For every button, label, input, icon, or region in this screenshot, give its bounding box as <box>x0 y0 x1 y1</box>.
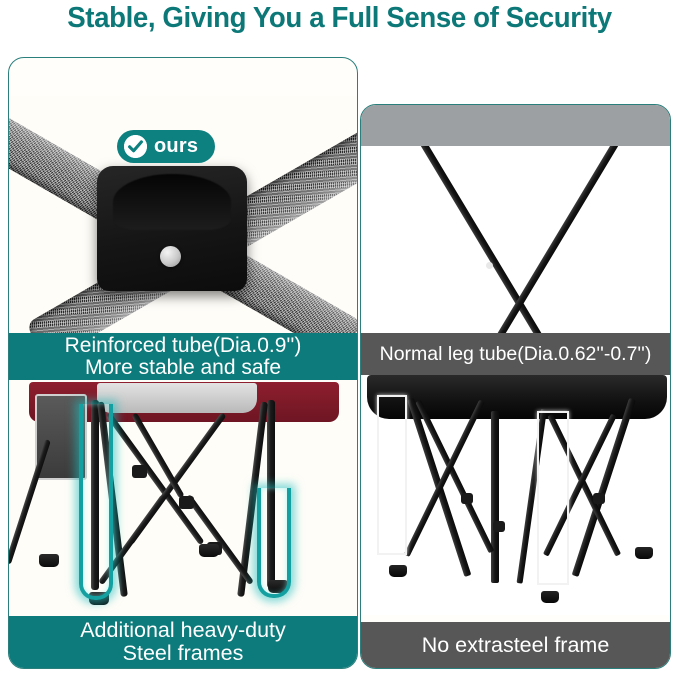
ours-top-caption: Reinforced tube(Dia.0.9'') More stable a… <box>9 333 357 381</box>
others-hub-mid <box>493 521 505 532</box>
ours-top-caption-line2: More stable and safe <box>65 357 302 379</box>
chair-seat-panel <box>97 383 257 413</box>
brace-hub-center <box>179 496 194 509</box>
others-joint-photo <box>361 146 670 333</box>
ours-top-caption-line1: Reinforced tube(Dia.0.9'') <box>65 335 302 357</box>
comparison-infographic: Stable, Giving You a Full Sense of Secur… <box>0 0 679 675</box>
ours-bottom-caption-line1: Additional heavy-duty <box>80 619 286 642</box>
others-bottom-caption-line1: No extrasteel frame <box>422 634 610 657</box>
brace-hub-upper <box>132 465 147 478</box>
page-title: Stable, Giving You a Full Sense of Secur… <box>10 2 669 35</box>
ours-panel: ours Reinforced tube(Dia.0.9'') More sta… <box>8 57 358 669</box>
highlight-bracket-left <box>79 404 113 600</box>
others-bottom-caption: No extrasteel frame <box>361 622 670 668</box>
others-foot-1 <box>389 565 407 577</box>
others-panel: others Normal leg tube(Dia.0.62''-0.7'') <box>360 104 671 669</box>
ours-bottom-caption-line2: Steel frames <box>80 642 286 665</box>
others-hub-left <box>461 493 473 504</box>
others-header-band <box>361 105 670 146</box>
others-hub-right <box>593 493 605 504</box>
others-foot-2 <box>541 591 559 603</box>
joint-notch <box>113 174 231 230</box>
others-top-caption-line1: Normal leg tube(Dia.0.62''-0.7'') <box>380 344 652 365</box>
small-rivet-icon <box>486 262 493 269</box>
badge-ours-label: ours <box>154 135 198 158</box>
thin-tube-left <box>419 146 574 333</box>
chair-foot-1 <box>39 554 59 567</box>
missing-frame-outline-right <box>537 411 569 585</box>
missing-frame-outline-left <box>377 395 407 555</box>
ours-chair-photo <box>9 380 357 624</box>
cross-brace-1 <box>106 412 205 545</box>
thin-tube-right <box>464 146 619 333</box>
badge-ours: ours <box>117 130 215 163</box>
rivet-icon <box>160 246 181 267</box>
others-foot-3 <box>635 547 653 559</box>
highlight-bracket-right <box>257 488 291 598</box>
others-top-caption: Normal leg tube(Dia.0.62''-0.7'') <box>361 333 670 375</box>
others-leg-center <box>491 411 499 583</box>
chair-foot-3 <box>199 544 219 557</box>
check-circle-icon <box>124 135 147 158</box>
others-chair-photo <box>361 375 670 615</box>
ours-bottom-caption: Additional heavy-duty Steel frames <box>9 616 357 668</box>
cross-brace-6 <box>9 439 51 564</box>
